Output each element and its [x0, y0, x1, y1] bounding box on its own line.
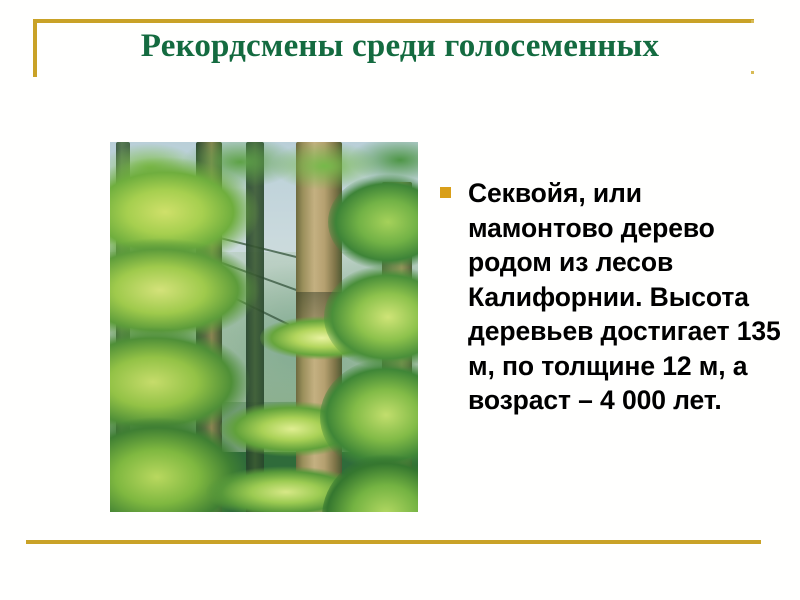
square-bullet-icon — [440, 187, 451, 198]
slide-title: Рекордсмены среди голосеменных — [60, 26, 740, 66]
frame-top-rule — [33, 19, 754, 23]
bullet-item-text: Секвойя, или мамонтово дерево родом из л… — [468, 176, 788, 418]
frame-left-rule — [33, 19, 37, 77]
frame-corner-dot-bottom — [751, 71, 754, 74]
frame-corner-dot-top — [751, 20, 754, 23]
bullet-list-item: Секвойя, или мамонтово дерево родом из л… — [440, 176, 788, 418]
slide-canvas: Рекордсмены среди голосеменных — [0, 0, 800, 600]
frame-bottom-rule — [26, 540, 761, 544]
body-text-block: Секвойя, или мамонтово дерево родом из л… — [440, 176, 788, 418]
sequoia-forest-image — [110, 142, 418, 512]
